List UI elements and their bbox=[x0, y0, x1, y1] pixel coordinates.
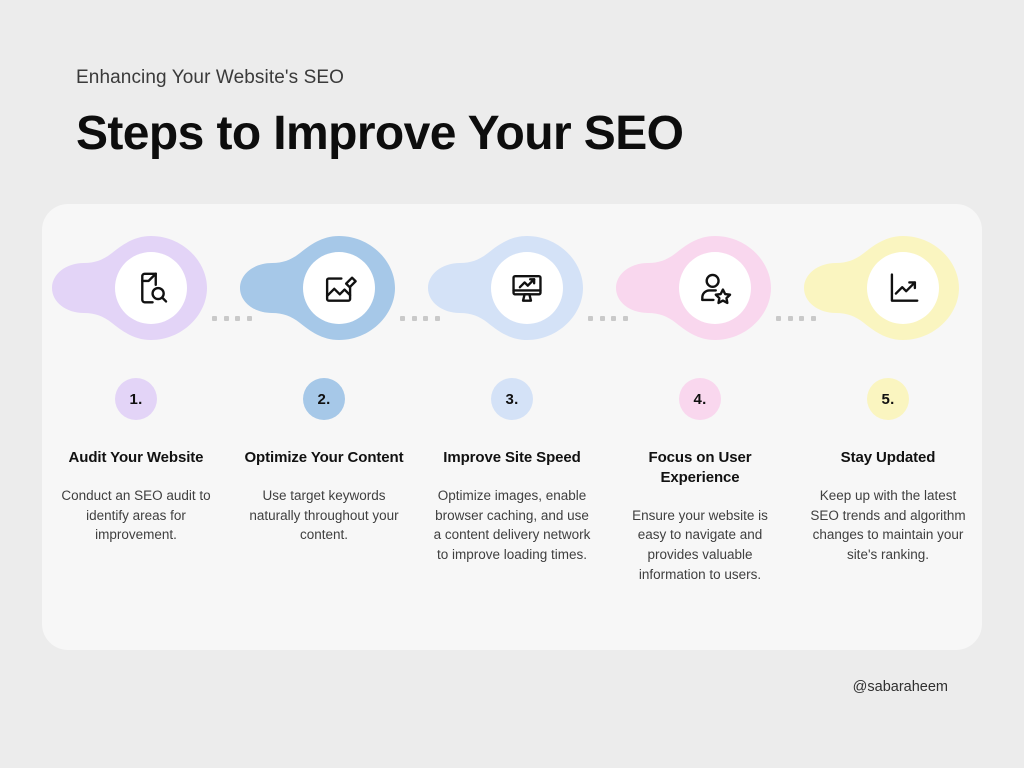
monitor-trending-up-icon bbox=[508, 269, 546, 307]
step-icon-blob bbox=[606, 232, 794, 344]
step-title: Stay Updated bbox=[808, 448, 968, 468]
connector-dots-4 bbox=[776, 316, 816, 321]
icon-disc bbox=[679, 252, 751, 324]
image-edit-pencil-icon bbox=[320, 269, 358, 307]
header: Enhancing Your Website's SEO Steps to Im… bbox=[76, 66, 936, 160]
connector-dot bbox=[235, 316, 240, 321]
connector-dots-2 bbox=[400, 316, 440, 321]
step-number-badge: 3. bbox=[491, 378, 533, 420]
step-description: Ensure your website is easy to navigate … bbox=[618, 506, 782, 584]
author-handle: @sabaraheem bbox=[853, 679, 948, 695]
step-title: Optimize Your Content bbox=[244, 448, 404, 468]
icon-disc bbox=[867, 252, 939, 324]
connector-dots-1 bbox=[212, 316, 252, 321]
page-title: Steps to Improve Your SEO bbox=[76, 107, 936, 161]
connector-dot bbox=[423, 316, 428, 321]
document-search-icon bbox=[132, 269, 170, 307]
icon-disc bbox=[303, 252, 375, 324]
step-1: 1.Audit Your WebsiteConduct an SEO audit… bbox=[42, 204, 230, 650]
connector-dot bbox=[788, 316, 793, 321]
connector-dot bbox=[435, 316, 440, 321]
eyebrow-text: Enhancing Your Website's SEO bbox=[76, 66, 936, 91]
step-5: 5.Stay UpdatedKeep up with the latest SE… bbox=[794, 204, 982, 650]
step-description: Optimize images, enable browser caching,… bbox=[430, 486, 594, 564]
connector-dot bbox=[412, 316, 417, 321]
step-2: 2.Optimize Your ContentUse target keywor… bbox=[230, 204, 418, 650]
connector-dot bbox=[811, 316, 816, 321]
connector-dot bbox=[212, 316, 217, 321]
step-description: Use target keywords naturally throughout… bbox=[242, 486, 406, 545]
steps-row: 1.Audit Your WebsiteConduct an SEO audit… bbox=[42, 204, 982, 650]
step-number-badge: 5. bbox=[867, 378, 909, 420]
step-icon-blob bbox=[418, 232, 606, 344]
connector-dot bbox=[224, 316, 229, 321]
connector-dot bbox=[247, 316, 252, 321]
line-chart-arrow-icon bbox=[884, 269, 922, 307]
step-3: 3.Improve Site SpeedOptimize images, ena… bbox=[418, 204, 606, 650]
connector-dot bbox=[776, 316, 781, 321]
connector-dot bbox=[611, 316, 616, 321]
step-title: Audit Your Website bbox=[56, 448, 216, 468]
icon-disc bbox=[491, 252, 563, 324]
step-number-badge: 4. bbox=[679, 378, 721, 420]
connector-dot bbox=[600, 316, 605, 321]
infographic-slide: Enhancing Your Website's SEO Steps to Im… bbox=[0, 0, 1024, 768]
step-title: Improve Site Speed bbox=[432, 448, 592, 468]
connector-dots-3 bbox=[588, 316, 628, 321]
step-number-badge: 2. bbox=[303, 378, 345, 420]
user-star-icon bbox=[696, 269, 734, 307]
steps-card: 1.Audit Your WebsiteConduct an SEO audit… bbox=[42, 204, 982, 650]
step-description: Keep up with the latest SEO trends and a… bbox=[806, 486, 970, 564]
connector-dot bbox=[623, 316, 628, 321]
step-icon-blob bbox=[794, 232, 982, 344]
step-number-badge: 1. bbox=[115, 378, 157, 420]
step-4: 4.Focus on User ExperienceEnsure your we… bbox=[606, 204, 794, 650]
connector-dot bbox=[799, 316, 804, 321]
icon-disc bbox=[115, 252, 187, 324]
connector-dot bbox=[400, 316, 405, 321]
step-icon-blob bbox=[42, 232, 230, 344]
step-title: Focus on User Experience bbox=[620, 448, 780, 488]
connector-dot bbox=[588, 316, 593, 321]
step-description: Conduct an SEO audit to identify areas f… bbox=[54, 486, 218, 545]
step-icon-blob bbox=[230, 232, 418, 344]
